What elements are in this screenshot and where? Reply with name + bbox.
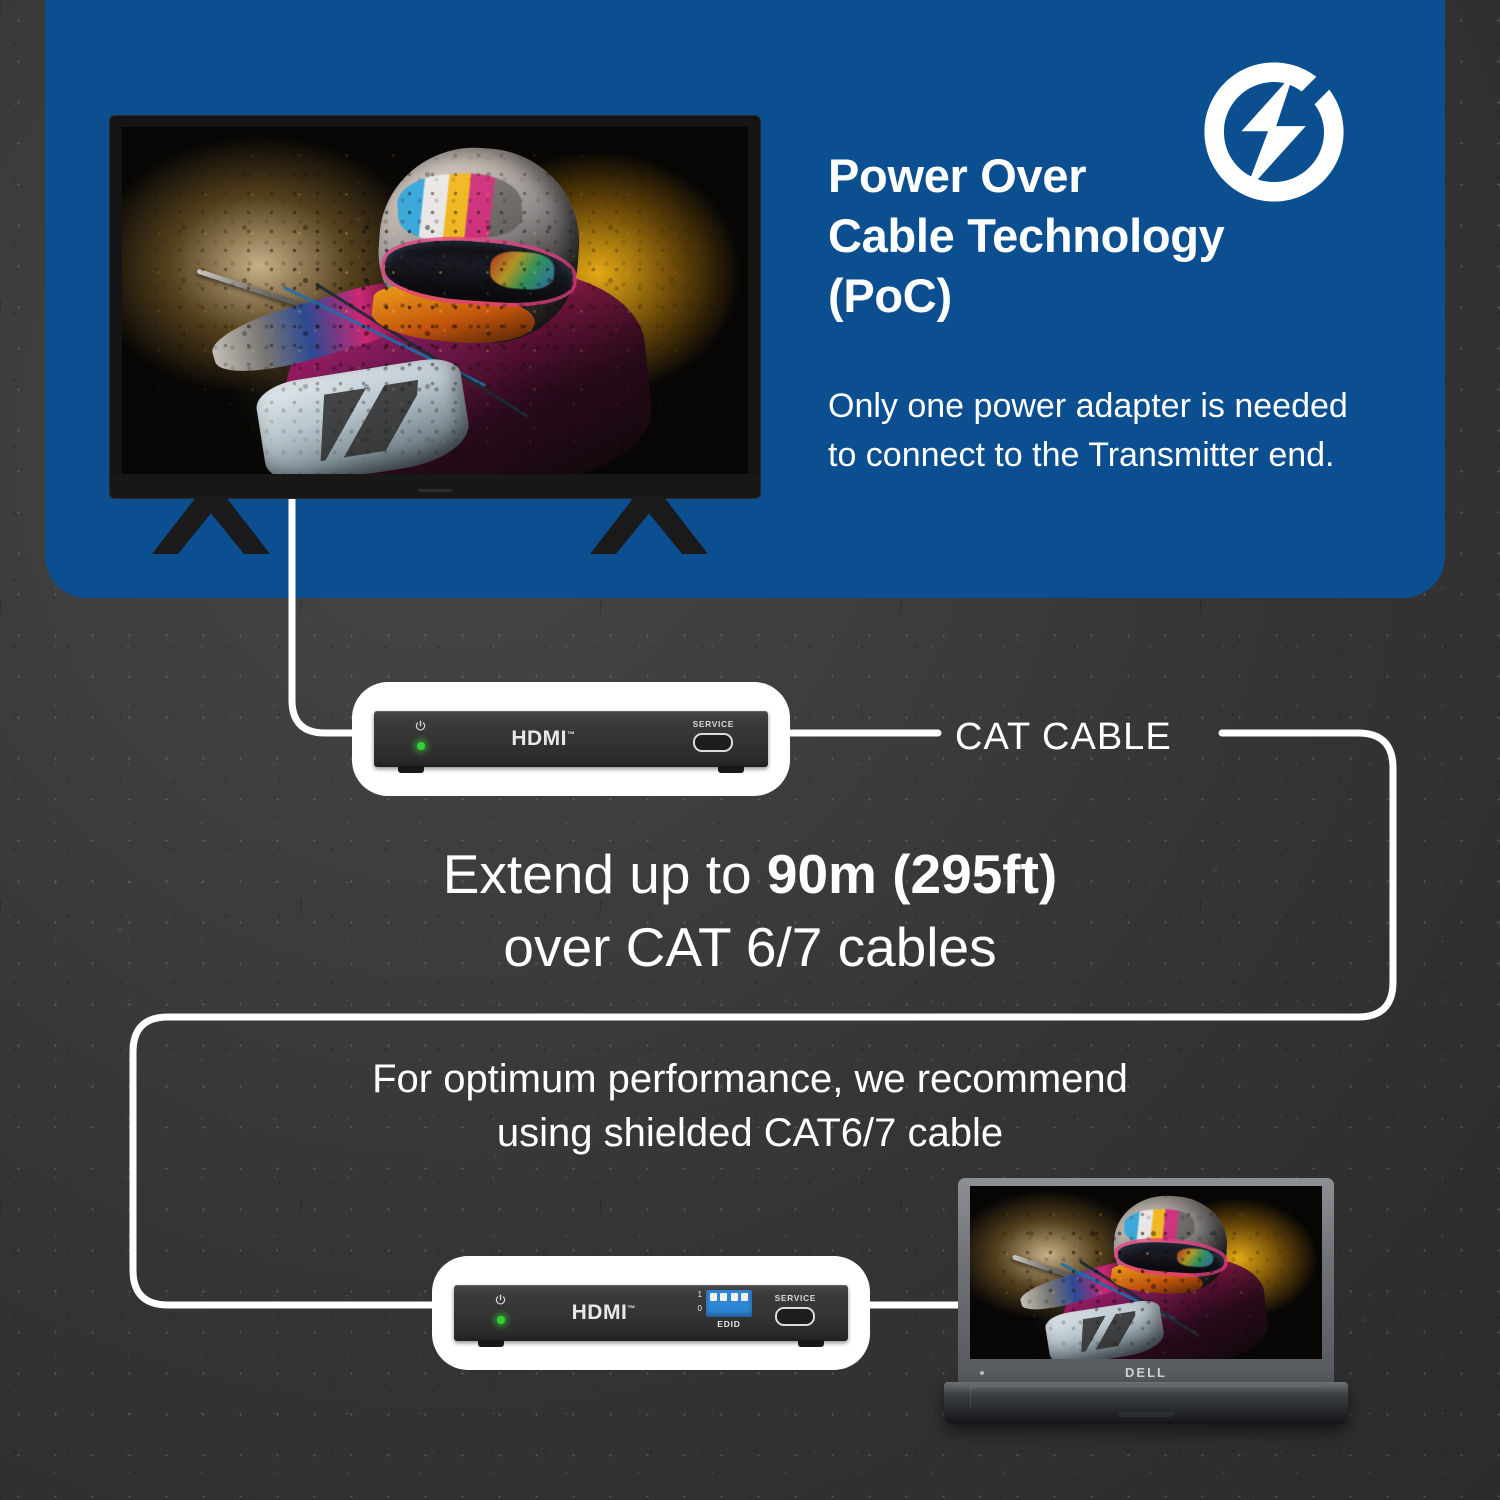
hdmi-logo: HDMI™ bbox=[572, 1301, 636, 1325]
laptop-screen bbox=[970, 1186, 1322, 1359]
edid-scale: 1 0 bbox=[698, 1290, 702, 1313]
transmitter-chassis: HDMI™ SERVICE bbox=[374, 711, 768, 767]
extend-callout: Extend up to 90m (295ft) over CAT 6/7 ca… bbox=[150, 838, 1350, 983]
poc-subtext: Only one power adapter is needed to conn… bbox=[828, 382, 1368, 479]
power-led bbox=[497, 1316, 505, 1324]
dip-switch-4[interactable] bbox=[741, 1293, 748, 1301]
motocross-image bbox=[970, 1186, 1322, 1359]
poc-heading-line-2: Cable Technology bbox=[828, 206, 1388, 266]
poc-heading-line-1: Power Over bbox=[828, 146, 1388, 206]
poc-heading: Power Over Cable Technology (PoC) bbox=[828, 146, 1388, 326]
laptop-lid: DELL bbox=[958, 1178, 1334, 1386]
hdmi-logo: HDMI™ bbox=[511, 727, 575, 751]
edid-dip-switch-group[interactable]: 1 0 EDID bbox=[698, 1290, 752, 1329]
device-foot-right bbox=[718, 766, 744, 773]
television bbox=[110, 116, 760, 498]
device-foot-left bbox=[478, 1340, 504, 1347]
grime-overlay bbox=[970, 1186, 1322, 1359]
edid-scale-low: 0 bbox=[698, 1305, 702, 1313]
tv-chin bbox=[110, 474, 760, 498]
dip-switch-2[interactable] bbox=[720, 1293, 727, 1301]
hdmi-logo-text: HDMI bbox=[511, 727, 567, 750]
service-port-group: SERVICE bbox=[693, 719, 734, 752]
tv-screen bbox=[122, 127, 748, 474]
hdmi-trademark: ™ bbox=[627, 1304, 636, 1313]
device-foot-left bbox=[398, 766, 424, 773]
extend-prefix: Extend up to bbox=[443, 843, 767, 905]
laptop-base bbox=[944, 1382, 1348, 1424]
infographic-canvas: Power Over Cable Technology (PoC) Only o… bbox=[0, 0, 1500, 1500]
cat-cable-label: CAT CABLE bbox=[955, 716, 1172, 759]
receiver-chassis: HDMI™ 1 0 EDID SERVICE bbox=[454, 1285, 848, 1341]
motocross-image bbox=[122, 127, 748, 474]
dip-switch-bank[interactable] bbox=[706, 1290, 752, 1317]
edid-column: EDID bbox=[706, 1290, 752, 1329]
laptop-keyboard[interactable] bbox=[970, 1386, 1322, 1408]
service-label: SERVICE bbox=[693, 719, 734, 729]
receiver-device: HDMI™ 1 0 EDID SERVICE bbox=[432, 1256, 870, 1370]
extend-suffix: over CAT 6/7 cables bbox=[503, 916, 996, 978]
dip-switch-1[interactable] bbox=[710, 1293, 717, 1301]
extend-distance: 90m (295ft) bbox=[767, 843, 1057, 905]
device-foot-right bbox=[798, 1340, 824, 1347]
laptop: DELL bbox=[944, 1178, 1348, 1440]
power-icon bbox=[414, 720, 427, 733]
recommend-line-2: using shielded CAT6/7 cable bbox=[180, 1106, 1320, 1160]
edid-scale-high: 1 bbox=[698, 1291, 702, 1299]
laptop-notch bbox=[1118, 1412, 1174, 1417]
recommend-callout: For optimum performance, we recommend us… bbox=[180, 1052, 1320, 1160]
recommend-line-1: For optimum performance, we recommend bbox=[180, 1052, 1320, 1106]
usb-c-port[interactable] bbox=[693, 733, 733, 752]
grime-overlay bbox=[122, 127, 748, 474]
hdmi-trademark: ™ bbox=[567, 730, 576, 739]
usb-c-port[interactable] bbox=[775, 1307, 815, 1326]
transmitter-device: HDMI™ SERVICE bbox=[352, 682, 790, 796]
service-label: SERVICE bbox=[775, 1293, 816, 1303]
power-icon bbox=[494, 1294, 507, 1307]
laptop-brand-logo: DELL bbox=[958, 1365, 1334, 1380]
poc-heading-line-3: (PoC) bbox=[828, 266, 1388, 326]
hdmi-logo-text: HDMI bbox=[572, 1301, 628, 1324]
service-port-group: SERVICE bbox=[775, 1293, 816, 1326]
power-led bbox=[417, 742, 425, 750]
edid-label: EDID bbox=[717, 1319, 741, 1329]
dip-switch-3[interactable] bbox=[731, 1293, 738, 1301]
